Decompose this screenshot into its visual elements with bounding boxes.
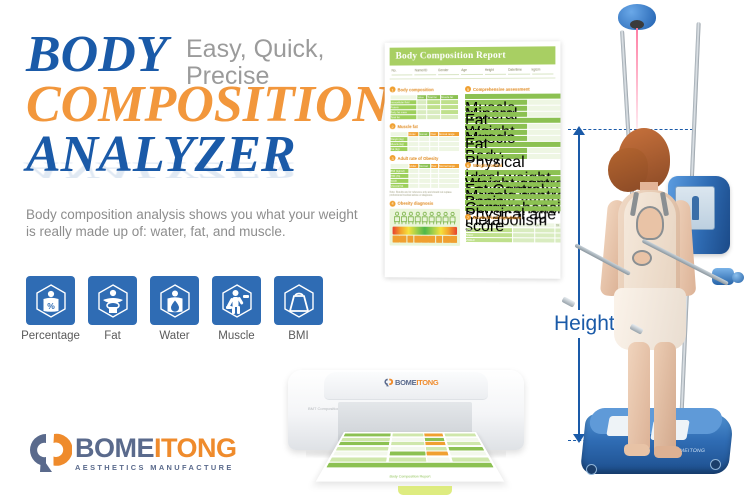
svg-text:%: %: [47, 301, 55, 311]
feature-muscle[interactable]: Muscle: [212, 276, 261, 342]
water-drop-person-icon: [156, 282, 194, 320]
section-title: Body composition: [398, 87, 434, 92]
row-label: Weight control: [465, 176, 560, 181]
assessment-row: Weight: [465, 124, 560, 129]
percentage-person-icon: %: [32, 282, 70, 320]
section-title: Muscle fat: [398, 124, 418, 129]
row-label: Basic metabolism: [465, 194, 560, 199]
row-label: Total fat: [390, 115, 417, 120]
report-right-column: 5 Comprehensive assessment Muscle Minera…: [465, 82, 560, 247]
feature-icon-row: % Percentage Fat: [26, 276, 323, 342]
assessment-group-1: Muscle Mineral salt Fat Weight Muscle Fa…: [465, 93, 560, 159]
report-table-obesity-rate: Under Normal Over Normal range BMI (kg/m…: [390, 163, 460, 189]
caster-wheel: [710, 459, 721, 470]
weight-control-row: Physical age: [465, 206, 560, 212]
report-table-body-composition: Value Total fat Muscle fat Intracellular…: [390, 94, 460, 120]
leg-left: [628, 342, 650, 452]
assessment-row: Muscle: [465, 99, 560, 105]
muscle-dumbbell-person-icon: [218, 282, 256, 320]
headline-line-3: ANALYZER: [26, 128, 386, 182]
fat-icon-box[interactable]: [88, 276, 137, 325]
report-info-field: Gender: [438, 68, 459, 75]
printer-brand-name: BOMEITONG: [395, 378, 438, 387]
dress-cutout-upper: [636, 206, 664, 240]
water-icon-box[interactable]: [150, 276, 199, 325]
report-info-field: kg/cm: [532, 67, 554, 74]
feature-label-percentage: Percentage: [18, 330, 83, 342]
row-label: Weight: [465, 124, 527, 129]
row-label: Muscle control: [465, 188, 560, 193]
printer-brand-part1: BOME: [395, 378, 416, 387]
report-columns: 1 Body composition Value Total fat Muscl…: [390, 83, 556, 247]
row-label: Fat Control: [465, 182, 560, 187]
company-logo[interactable]: BOMEITONG AESTHETICS MANUFACTURE: [28, 432, 237, 474]
section-number-badge: 1: [390, 86, 396, 92]
body-figure-icon: [394, 212, 401, 225]
row-label: 250kHz: [466, 237, 513, 242]
skirt: [614, 288, 686, 350]
report-info-row: No. Name/ID Gender Age Height Date/time …: [390, 64, 556, 79]
feature-fat[interactable]: Fat: [88, 276, 137, 342]
table-row: Fat (kg): [390, 147, 459, 152]
body-figure-icon: [400, 212, 407, 225]
leg-right: [654, 342, 676, 454]
weight-control-row: Ideal weightkg: [465, 170, 560, 175]
body-figure-icon: [421, 212, 428, 225]
row-label: Body type score: [465, 148, 527, 153]
weight-control-row: Basic metabolismkcal/d: [465, 194, 560, 199]
printer-output-tray: [398, 486, 452, 495]
assessment-row: Muscle: [465, 130, 560, 135]
person-illustration: [596, 128, 716, 458]
feature-label-water: Water: [150, 330, 199, 342]
row-label: Physical age: [465, 154, 527, 159]
table-row: 250kHz: [466, 237, 561, 243]
headline-line-1: BODY: [26, 30, 168, 80]
feature-label-fat: Fat: [88, 330, 137, 342]
row-label: Ideal weight: [465, 170, 560, 175]
feature-label-bmi: BMI: [274, 330, 323, 342]
printed-report-page: Body Composition Report: [316, 432, 504, 482]
section-title: Obesity diagnosis: [398, 201, 434, 206]
tagline: Easy, Quick, Precise: [186, 36, 366, 90]
obesity-diagram: [390, 209, 460, 246]
report-section-5: 5 Comprehensive assessment: [465, 85, 560, 92]
body-figure-icon: [435, 212, 442, 225]
description-text: Body composition analysis shows you what…: [26, 206, 366, 240]
laser-beam: [636, 28, 638, 133]
feature-water[interactable]: Water: [150, 276, 199, 342]
table-row: Total fat: [390, 115, 459, 120]
report-note: Note: Results are for reference only and…: [390, 191, 460, 198]
report-table-muscle-fat: Under Normal Over Normal range Weight (k…: [390, 131, 460, 152]
body-figure-icon: [449, 212, 456, 225]
row-label: Comprehensive score: [465, 200, 560, 205]
assessment-row: Body type score: [465, 148, 560, 153]
row-label: Visceral fat: [390, 183, 409, 188]
report-info-field: No.: [392, 68, 413, 75]
body-composition-report-sheet[interactable]: Body Composition Report No. Name/ID Gend…: [385, 41, 561, 279]
feature-percentage[interactable]: % Percentage: [26, 276, 75, 342]
weight-control-table: Ideal weightkg Weight controlkg Fat Cont…: [465, 170, 560, 212]
printer-brand-part2: ITONG: [416, 378, 438, 387]
logo-mark-icon: [28, 432, 72, 474]
caster-wheel: [586, 464, 597, 475]
row-label: Fat: [465, 136, 527, 141]
report-section-3: 3 Adult rate of Obesity: [390, 155, 460, 161]
bmi-icon-box[interactable]: [274, 276, 323, 325]
section-title: Comprehensive assessment: [473, 86, 530, 91]
section-number-badge: 5: [465, 86, 471, 92]
assessment-row: Mineral salt: [465, 105, 560, 111]
section-number-badge: 4: [390, 201, 396, 207]
foot-right: [654, 446, 682, 458]
weight-control-row: Weight controlkg: [465, 176, 560, 181]
dress-cutout-lower: [632, 250, 652, 266]
weight-control-row: Fat Controlkg: [465, 182, 560, 187]
row-label: Mineral salt: [465, 106, 527, 111]
table-row: Visceral fat: [390, 183, 459, 188]
report-info-field: Date/time: [508, 68, 530, 75]
body-figure-icon: [407, 212, 414, 225]
section-number-badge: 2: [390, 123, 396, 129]
section-number-badge: 3: [390, 155, 396, 161]
row-label: Fat: [465, 112, 527, 117]
report-section-1: 1 Body composition: [390, 86, 460, 92]
row-label: Physical age: [465, 206, 560, 211]
obesity-gradient-bar: [393, 226, 457, 234]
fat-person-icon: [94, 282, 132, 320]
body-figure-icon: [428, 212, 435, 225]
logo-text: BOMEITONG AESTHETICS MANUFACTURE: [75, 435, 237, 472]
row-label: Fat (kg): [390, 147, 408, 152]
report-left-column: 1 Body composition Value Total fat Muscl…: [390, 83, 460, 246]
muscle-icon-box[interactable]: [212, 276, 261, 325]
section-number-badge: 6: [465, 162, 471, 168]
report-section-2: 2 Muscle fat: [390, 123, 460, 129]
row-label: Muscle: [465, 100, 527, 105]
section-number-badge: 7: [465, 214, 471, 220]
logo-name-part1: BOME: [75, 433, 154, 463]
report-title: Body Composition Report: [390, 46, 556, 65]
assessment-row: Physical age: [465, 154, 560, 159]
handle-knob[interactable]: [732, 272, 744, 283]
foot-left: [624, 444, 650, 456]
printer-logo-mark-icon: [384, 378, 393, 387]
weight-control-row: Muscle controlkg: [465, 188, 560, 193]
section-title: Bioelectrical impedance: [473, 215, 521, 220]
weight-control-row: Comprehensive scorePoint: [465, 200, 560, 206]
body-figure-icon: [442, 212, 449, 225]
logo-subtitle: AESTHETICS MANUFACTURE: [75, 463, 237, 472]
report-info-field: Name/ID: [415, 68, 436, 75]
obesity-category-labels: [393, 235, 457, 242]
body-figure-icon: [414, 212, 421, 225]
percentage-icon-box[interactable]: %: [26, 276, 75, 325]
body-figure-row: [393, 212, 457, 227]
section-title: Adult rate of Obesity: [398, 156, 439, 161]
weight-bmi-icon: [280, 282, 318, 320]
feature-label-muscle: Muscle: [207, 330, 266, 342]
printed-report-title: Body Composition Report: [317, 475, 502, 479]
logo-name-part2: ITONG: [154, 433, 237, 463]
report-info-field: Height: [485, 68, 506, 75]
report-section-4: 4 Obesity diagnosis: [390, 201, 460, 207]
row-label: Muscle: [465, 130, 527, 135]
printer-brand-logo: BOMEITONG: [384, 378, 438, 387]
assessment-row: Fat: [465, 136, 560, 141]
section-title: Weight control: [473, 163, 502, 168]
report-info-field: Age: [461, 68, 482, 75]
report-printer: BOMEITONG BMT Composition Printer Body C…: [288, 362, 528, 499]
feature-bmi[interactable]: BMI: [274, 276, 323, 342]
logo-name: BOMEITONG: [75, 435, 237, 462]
assessment-row: Fat: [465, 111, 560, 117]
poster-root: BODY COMPOSITION ANALYZER ANALYZER Easy,…: [0, 0, 750, 499]
